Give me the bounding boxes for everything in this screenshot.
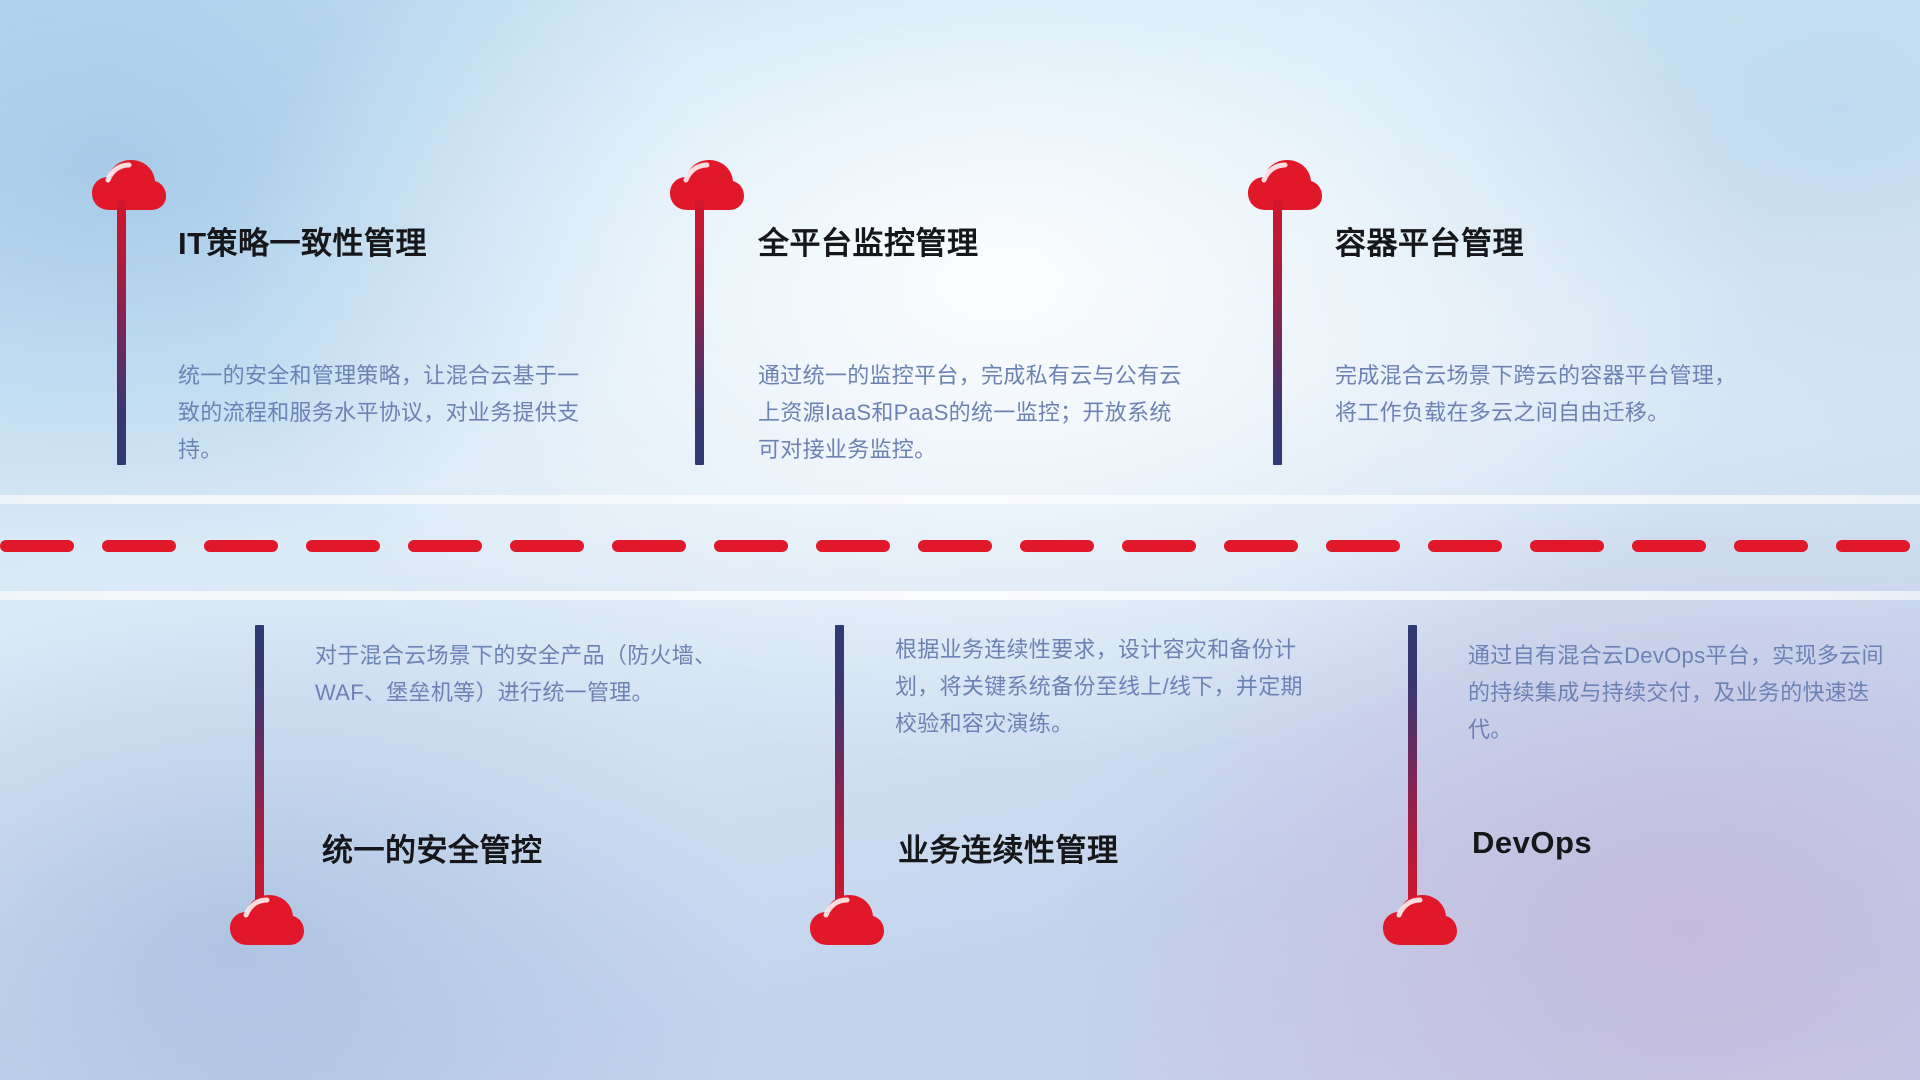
infographic-canvas: IT策略一致性管理 统一的安全和管理策略，让混合云基于一致的流程和服务水平协议，… xyxy=(0,0,1920,1080)
item-title: IT策略一致性管理 xyxy=(178,218,427,263)
item-title: 业务连续性管理 xyxy=(898,825,1119,870)
item-title: 全平台监控管理 xyxy=(758,218,979,263)
cloud-pin-icon xyxy=(92,160,166,212)
road-dash-segment xyxy=(1836,540,1910,552)
cloud-pin-icon xyxy=(1383,895,1457,947)
road-dash-segment xyxy=(1734,540,1808,552)
item-title: DevOps xyxy=(1472,825,1592,861)
road-edge-bottom xyxy=(0,591,1920,600)
item-description: 完成混合云场景下跨云的容器平台管理，将工作负载在多云之间自由迁移。 xyxy=(1335,358,1755,432)
road-edge-top xyxy=(0,495,1920,504)
road-dash-segment xyxy=(510,540,584,552)
road-dash-segment xyxy=(1428,540,1502,552)
road-dash-segment xyxy=(408,540,482,552)
item-description: 统一的安全和管理策略，让混合云基于一致的流程和服务水平协议，对业务提供支持。 xyxy=(178,358,598,469)
road-dash-segment xyxy=(306,540,380,552)
road-dash-segment xyxy=(612,540,686,552)
road-dash-segment xyxy=(1020,540,1094,552)
road-dashed-center-line xyxy=(0,540,1920,552)
item-description: 通过自有混合云DevOps平台，实现多云间的持续集成与持续交付，及业务的快速迭代… xyxy=(1468,638,1888,749)
item-title: 容器平台管理 xyxy=(1335,218,1524,263)
road-dash-segment xyxy=(204,540,278,552)
item-description: 通过统一的监控平台，完成私有云与公有云上资源IaaS和PaaS的统一监控；开放系… xyxy=(758,358,1188,469)
cloud-pin-icon xyxy=(230,895,304,947)
road-dash-segment xyxy=(1530,540,1604,552)
road-dash-segment xyxy=(1632,540,1706,552)
item-description: 根据业务连续性要求，设计容灾和备份计划，将关键系统备份至线上/线下，并定期校验和… xyxy=(895,632,1315,743)
pole-connector xyxy=(835,625,844,915)
cloud-pin-icon xyxy=(1248,160,1322,212)
cloud-pin-icon xyxy=(810,895,884,947)
pole-connector xyxy=(695,200,704,465)
cloud-pin-icon xyxy=(670,160,744,212)
pole-connector xyxy=(1273,200,1282,465)
road-dash-segment xyxy=(816,540,890,552)
road-dash-segment xyxy=(1326,540,1400,552)
road-dash-segment xyxy=(714,540,788,552)
pole-connector xyxy=(1408,625,1417,915)
road-dash-segment xyxy=(0,540,74,552)
road-dash-segment xyxy=(918,540,992,552)
item-description: 对于混合云场景下的安全产品（防火墙、WAF、堡垒机等）进行统一管理。 xyxy=(315,638,735,712)
item-title: 统一的安全管控 xyxy=(322,825,543,870)
road-dash-segment xyxy=(1224,540,1298,552)
road-dash-segment xyxy=(102,540,176,552)
pole-connector xyxy=(117,200,126,465)
pole-connector xyxy=(255,625,264,915)
road-dash-segment xyxy=(1122,540,1196,552)
